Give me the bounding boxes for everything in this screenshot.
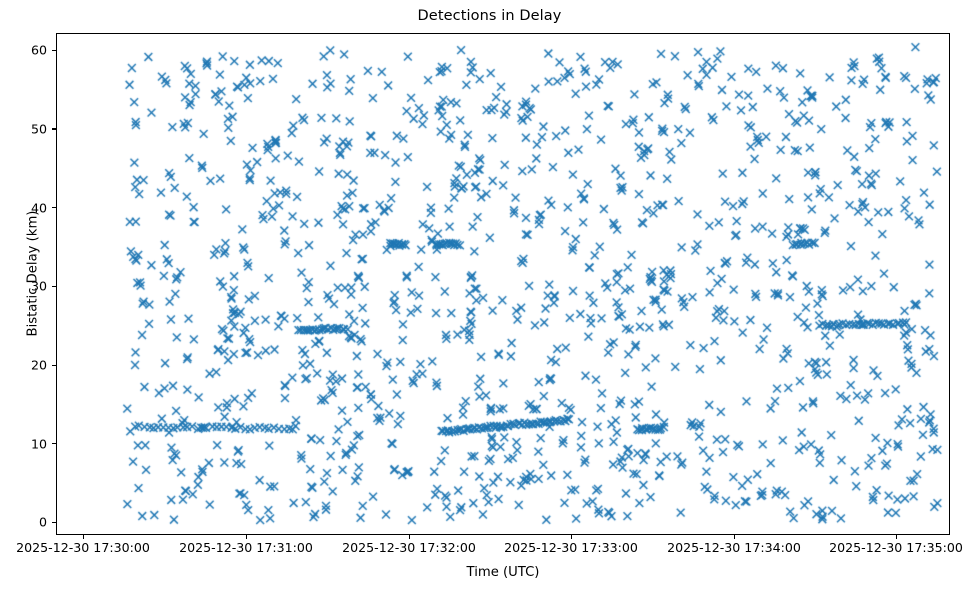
plot-axes-area bbox=[56, 33, 950, 535]
figure-canvas: Detections in Delay 0102030405060 2025-1… bbox=[0, 0, 979, 590]
x-tick-label: 2025-12-30 17:32:00 bbox=[309, 540, 509, 555]
x-tick-label: 2025-12-30 17:31:00 bbox=[146, 540, 346, 555]
y-axis-label: Bistatic Delay (km) bbox=[26, 23, 41, 525]
x-tick-label: 2025-12-30 17:30:00 bbox=[0, 540, 183, 555]
x-tick-mark bbox=[571, 535, 572, 539]
x-tick-mark bbox=[734, 535, 735, 539]
page-title: Detections in Delay bbox=[0, 8, 979, 24]
x-axis-label: Time (UTC) bbox=[56, 565, 950, 580]
x-tick-label: 2025-12-30 17:35:00 bbox=[796, 540, 979, 555]
x-tick-mark bbox=[896, 535, 897, 539]
x-tick-label: 2025-12-30 17:33:00 bbox=[471, 540, 671, 555]
x-tick-mark bbox=[83, 535, 84, 539]
x-tick-mark bbox=[246, 535, 247, 539]
x-tick-mark bbox=[409, 535, 410, 539]
x-tick-label: 2025-12-30 17:34:00 bbox=[634, 540, 834, 555]
scatter-points-layer bbox=[57, 34, 950, 535]
